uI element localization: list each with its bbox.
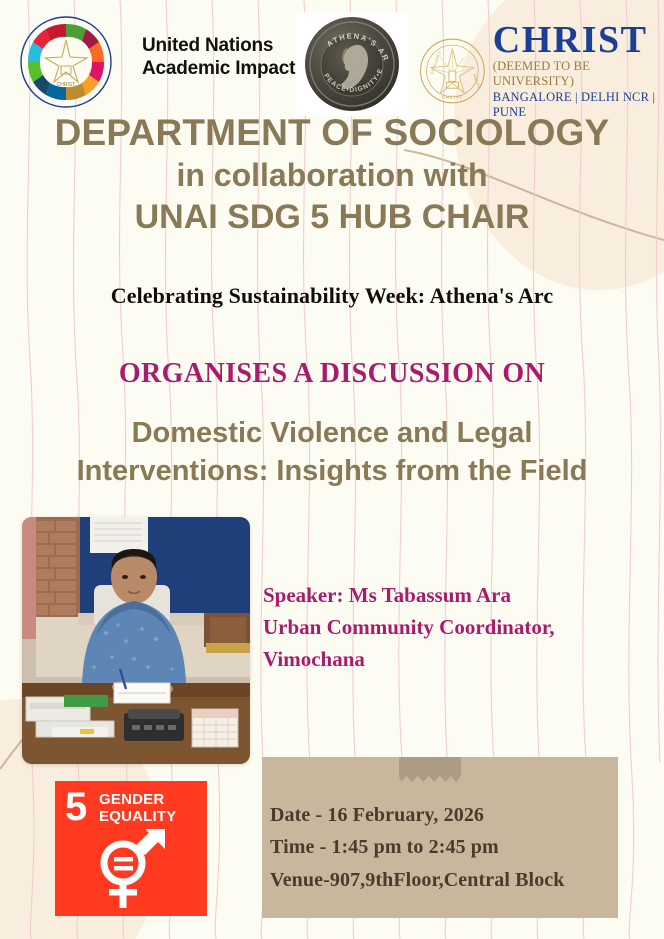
athena-arc-medallion-icon: ATHENA'S ARC PEACE•DIGNITY•EQUALITY [302, 15, 402, 113]
unai-logo: United Nations Academic Impact [142, 34, 318, 80]
event-details-card: Date - 16 February, 2026 Time - 1:45 pm … [262, 757, 618, 918]
athena-arc-logo: ATHENA'S ARC PEACE•DIGNITY•EQUALITY [296, 12, 408, 116]
christ-deemed-line: (DEEMED TO BE UNIVERSITY) [493, 59, 664, 89]
sdg-5-badge: 5 GENDER EQUALITY [55, 781, 207, 916]
speaker-organisation: Vimochana [263, 644, 638, 676]
logo-row: CHRIST United Nations Academic Impact [0, 8, 664, 112]
speaker-photo-image [22, 517, 250, 764]
speaker-photo [22, 517, 250, 764]
gender-equality-icon [89, 829, 175, 911]
speaker-role: Urban Community Coordinator, [263, 612, 638, 644]
event-details-text: Date - 16 February, 2026 Time - 1:45 pm … [270, 799, 565, 896]
christ-university-logo: EXCELLENCE SERVICE CHRIST CHRIST (DEEMED… [418, 22, 664, 120]
event-date: Date - 16 February, 2026 [270, 799, 565, 831]
svg-text:CHRIST: CHRIST [442, 95, 463, 100]
sdg-label: GENDER EQUALITY [99, 792, 176, 826]
department-title: DEPARTMENT OF SOCIOLOGY [0, 112, 664, 153]
speaker-name: Speaker: Ms Tabassum Ara [263, 580, 638, 612]
christ-seal-icon: EXCELLENCE SERVICE CHRIST [418, 31, 487, 111]
christ-wordmark: CHRIST [493, 22, 664, 58]
sdg-number: 5 [65, 787, 86, 827]
sdg-christ-seal-icon: CHRIST [14, 14, 118, 110]
discussion-topic: Domestic Violence and Legal Intervention… [70, 414, 594, 491]
svg-text:CHRIST: CHRIST [57, 82, 76, 88]
svg-text:SERVICE: SERVICE [472, 74, 481, 90]
collaboration-line: in collaboration with [0, 155, 664, 195]
main-heading-block: DEPARTMENT OF SOCIOLOGY in collaboration… [0, 112, 664, 238]
organises-line: ORGANISES A DISCUSSION ON [0, 358, 664, 390]
speaker-details: Speaker: Ms Tabassum Ara Urban Community… [263, 580, 638, 676]
unai-logo-text: United Nations Academic Impact [142, 34, 295, 80]
chair-title: UNAI SDG 5 HUB CHAIR [0, 197, 664, 238]
tape-strip [399, 757, 461, 782]
svg-text:EXCELLENCE: EXCELLENCE [430, 50, 442, 75]
event-venue: Venue-907,9thFloor,Central Block [270, 864, 565, 896]
sustainability-week-line: Celebrating Sustainability Week: Athena'… [0, 283, 664, 309]
event-time: Time - 1:45 pm to 2:45 pm [270, 831, 565, 863]
event-poster: CHRIST United Nations Academic Impact [0, 0, 664, 939]
